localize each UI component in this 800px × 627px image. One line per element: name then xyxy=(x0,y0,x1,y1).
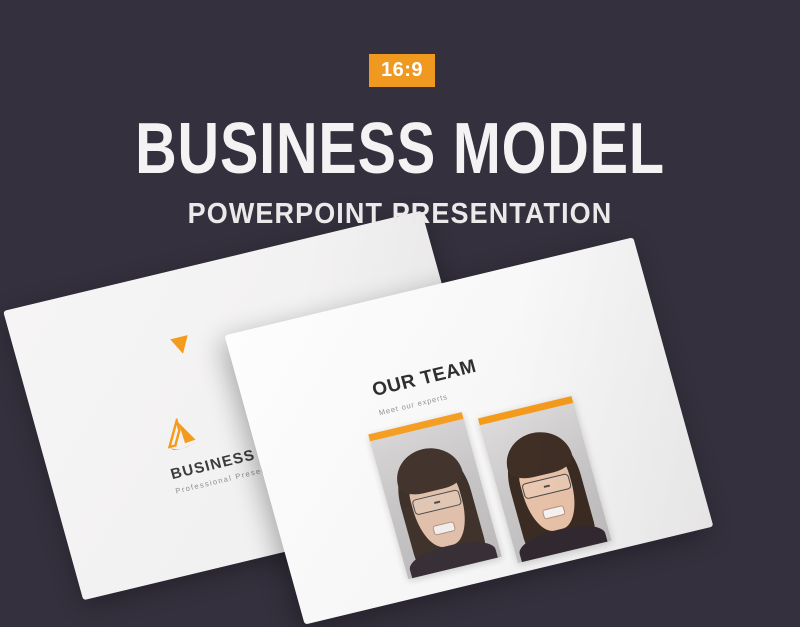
portrait-image xyxy=(370,419,502,579)
orange-arrow-logo-icon xyxy=(157,413,209,461)
team-member-photo-2[interactable] xyxy=(478,396,611,563)
page-title: BUSINESS MODEL xyxy=(80,112,720,186)
hero-text-block: BUSINESS MODEL POWERPOINT PRESENTATION xyxy=(0,112,800,230)
slide-mockup-group: BUSINESS MODEL Professional Presentation… xyxy=(0,0,800,627)
team-member-photo-1[interactable] xyxy=(368,412,501,579)
preview-canvas: BUSINESS MODEL Professional Presentation… xyxy=(0,0,800,627)
page-subtitle: POWERPOINT PRESENTATION xyxy=(28,198,772,230)
portrait-image xyxy=(480,403,612,563)
team-photo-row xyxy=(368,386,611,588)
